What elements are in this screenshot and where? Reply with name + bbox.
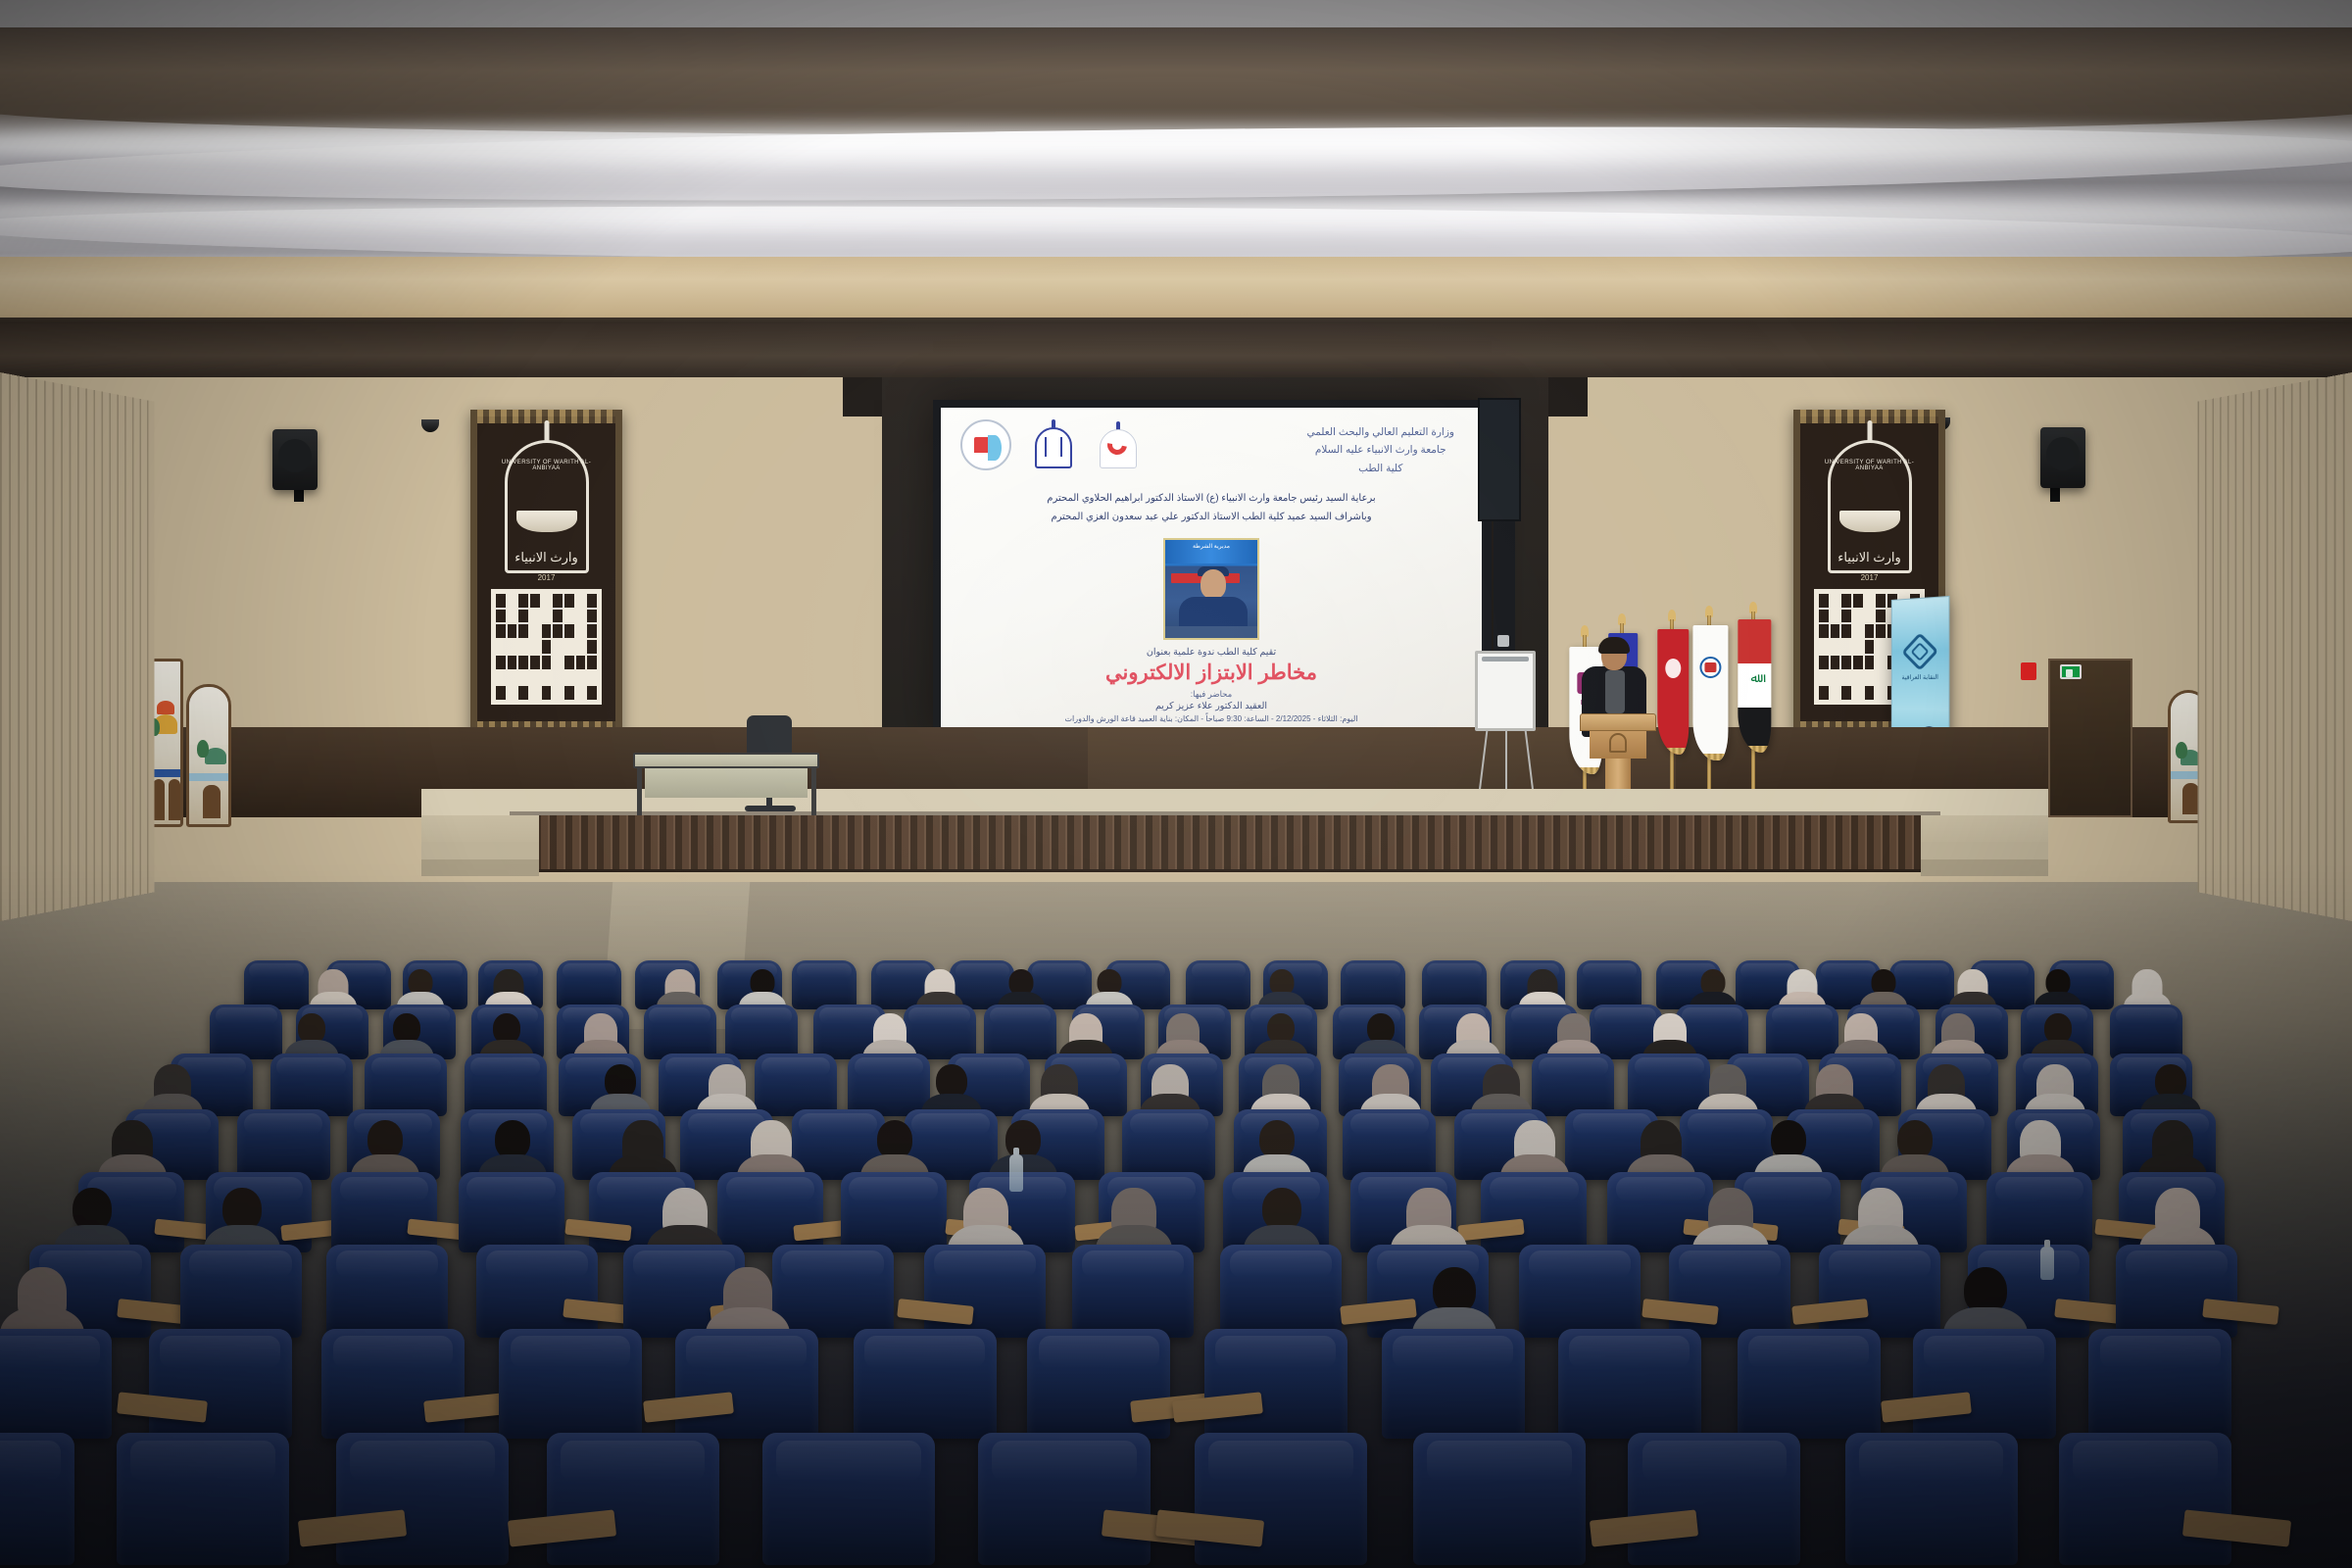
auditorium-seat[interactable] [244,960,309,1009]
screen-menu-button[interactable] [1497,635,1509,647]
ministry-line-2: جامعة وارث الانبياء عليه السلام [1306,441,1454,459]
desk-leg-left [637,768,642,815]
panel-university-ar-r: وارث الانبياء [1816,550,1923,565]
auditorium-seat[interactable] [1072,1245,1194,1338]
stage-steps-right [1921,815,2048,876]
audience-head [495,1120,530,1159]
side-wall-right [2198,372,2352,921]
auditorium-seat[interactable] [675,1329,818,1439]
auditorium-seat[interactable] [365,1053,447,1116]
motif-spire-icon-r [1867,420,1872,442]
auditorium-seat[interactable] [1845,1433,2018,1565]
lecture-hall-photo: UNIVERSITY OF WARITH AL-ANBIYAA وارث الا… [0,0,2352,1568]
audience-head [1897,1120,1933,1159]
desk-leg-right [811,768,816,815]
panel-university-motif-r: UNIVERSITY OF WARITH AL-ANBIYAA وارث الا… [1816,434,1923,601]
auditorium-seat[interactable] [321,1329,465,1439]
slide-logos [955,416,1145,476]
office-chair-base [745,806,796,811]
flag-red [1652,610,1691,819]
panel-year: 2017 [493,573,600,582]
auditorium-seat[interactable] [465,1053,547,1116]
ministry-line-3: كلية الطب [1306,460,1454,477]
auditorium-seat[interactable] [1422,960,1487,1009]
desk-modesty-panel [645,768,808,798]
auditorium-seat[interactable] [1558,1329,1701,1439]
auditorium-seat[interactable] [0,1329,112,1439]
university-dome-logo [1027,419,1080,476]
ministry-line-1: وزارة التعليم العالي والبحث العلمي [1306,423,1454,441]
auditorium-seat[interactable] [854,1329,997,1439]
auditorium-seat[interactable] [725,1004,798,1059]
auditorium-seat[interactable] [270,1053,353,1116]
auditorium-seat[interactable] [1532,1053,1614,1116]
stage-steps-left [421,815,539,876]
portrait-banner-text: مديرية الشرطة [1165,543,1257,550]
kufic-calligraphy [491,589,602,705]
podium-emblem-icon [1609,733,1627,753]
auditorium-seat[interactable] [1195,1433,1367,1565]
auditorium-seat[interactable] [1519,1245,1641,1338]
fire-alarm-icon[interactable] [2021,662,2036,680]
motif-spire-icon [544,420,549,442]
auditorium-seat[interactable] [1669,1245,1790,1338]
slide-lecturer-name: العقيد الدكتور علاء عزيز كريم [1155,701,1267,711]
panel-university-en-r: UNIVERSITY OF WARITH AL-ANBIYAA [1816,460,1923,471]
auditorium-seat[interactable] [924,1245,1046,1338]
lecturer-portrait: مديرية الشرطة [1163,538,1259,640]
auditorium-seat[interactable] [1481,1172,1587,1252]
side-door[interactable] [2048,659,2132,817]
loudspeaker-icon-right [2040,427,2085,488]
auditorium-seat[interactable] [1186,960,1250,1009]
upper-wood-band [0,257,2352,333]
auditorium-seat[interactable] [0,1433,74,1565]
audience-head [1005,1120,1041,1159]
cove-light-1 [0,116,2352,171]
cove-light-2 [0,192,2352,233]
auditorium-seat[interactable] [1343,1109,1436,1180]
auditorium-seat[interactable] [792,960,857,1009]
wall-art-panel-3 [186,684,231,827]
motif-open-book-icon-r [1839,511,1900,532]
auditorium-seat[interactable] [1204,1329,1347,1439]
auditorium-seat[interactable] [1819,1245,1940,1338]
auditorium-seat[interactable] [1382,1329,1525,1439]
auditorium-seat[interactable] [499,1329,642,1439]
auditorium-seat[interactable] [984,1004,1056,1059]
auditorium-seat[interactable] [2059,1433,2231,1565]
motif-open-book-icon [516,511,577,532]
auditorium-seat[interactable] [1738,1329,1881,1439]
auditorium-seat[interactable] [1341,960,1405,1009]
auditorium-seat[interactable] [117,1433,289,1565]
slide-patron-block: برعاية السيد رئيس جامعة وارث الانبياء (ع… [955,489,1468,526]
audience-head [1259,1120,1295,1159]
auditorium-seat[interactable] [476,1245,598,1338]
auditorium-seat[interactable] [326,1245,448,1338]
slide-ministry-block: وزارة التعليم العالي والبحث العلمي جامعة… [1306,416,1468,477]
flipchart-whiteboard [1475,651,1536,731]
auditorium-seat[interactable] [336,1433,509,1565]
auditorium-seat[interactable] [1913,1329,2056,1439]
auditorium-seat[interactable] [644,1004,716,1059]
slide-footer-details: اليوم: الثلاثاء - 2/12/2025 - الساعة: 9:… [955,714,1468,723]
auditorium-seat[interactable] [557,960,621,1009]
side-wall-left [0,372,154,921]
slide-title: مخاطر الابتزاز الالكتروني [1105,661,1317,685]
ministry-emblem-logo [960,419,1015,476]
loudspeaker-icon [272,429,318,490]
auditorium-seat[interactable] [1220,1245,1342,1338]
auditorium-seat[interactable] [237,1109,330,1180]
auditorium-seat[interactable] [762,1433,935,1565]
water-bottle [1009,1154,1023,1192]
auditorium-seat[interactable] [1027,1329,1170,1439]
ceiling [0,0,2352,294]
wood-soffit [0,323,2352,382]
patron-line-1: برعاية السيد رئيس جامعة وارث الانبياء (ع… [955,489,1468,508]
speaker-podium [1580,713,1656,731]
slide-content: وزارة التعليم العالي والبحث العلمي جامعة… [941,408,1482,728]
auditorium-seat[interactable] [2116,1245,2237,1338]
audience-head [1771,1120,1806,1159]
auditorium-seat[interactable] [1122,1109,1215,1180]
auditorium-seat[interactable] [1413,1433,1586,1565]
auditorium-seat[interactable] [547,1433,719,1565]
patron-line-2: وباشراف السيد عميد كلية الطب الاستاذ الد… [955,508,1468,526]
banner-star-icon [1901,632,1938,671]
auditorium-seat[interactable] [331,1172,437,1252]
audience-head [367,1120,403,1159]
panel-university-en: UNIVERSITY OF WARITH AL-ANBIYAA [493,460,600,471]
auditorium-seat[interactable] [848,1053,930,1116]
slide-subtitle: تقيم كلية الطب ندوة علمية بعنوان [1147,647,1276,658]
auditorium-seat[interactable] [149,1329,292,1439]
panel-university-ar: وارث الانبياء [493,550,600,565]
red-crescent-logo [1092,419,1145,476]
speaker-hair [1598,637,1630,654]
auditorium-seat[interactable] [1628,1433,1800,1565]
water-bottle-2 [2040,1247,2054,1280]
slide-lecturer-label: محاضر فيها: [1191,689,1232,700]
stage-desk [633,753,819,768]
slide-header: وزارة التعليم العالي والبحث العلمي جامعة… [955,416,1468,477]
decorative-panel-left: UNIVERSITY OF WARITH AL-ANBIYAA وارث الا… [470,410,622,735]
auditorium-seat[interactable] [978,1433,1151,1565]
panel-university-motif: UNIVERSITY OF WARITH AL-ANBIYAA وارث الا… [493,434,600,601]
speaker-shirt [1605,670,1625,713]
auditorium-seat[interactable] [459,1172,564,1252]
auditorium-seat[interactable] [1986,1172,2092,1252]
projection-screen[interactable]: وزارة التعليم العالي والبحث العلمي جامعة… [933,400,1492,738]
audience-head [877,1120,912,1159]
auditorium-seat[interactable] [717,1172,823,1252]
wall-monitor [1478,398,1521,521]
panel-year-r: 2017 [1816,573,1923,582]
auditorium-seat[interactable] [2110,1004,2182,1059]
banner-heading: النقابة العراقية [1892,673,1949,682]
auditorium-seat[interactable] [1766,1004,1838,1059]
auditorium-seat[interactable] [2088,1329,2231,1439]
auditorium-seat[interactable] [755,1053,837,1116]
auditorium-seat[interactable] [841,1172,947,1252]
auditorium-seat[interactable] [180,1245,302,1338]
stage-front-paneling [510,811,1940,872]
exit-sign-icon [2060,664,2082,679]
auditorium-seat[interactable] [210,1004,282,1059]
auditorium-seat[interactable] [1577,960,1641,1009]
